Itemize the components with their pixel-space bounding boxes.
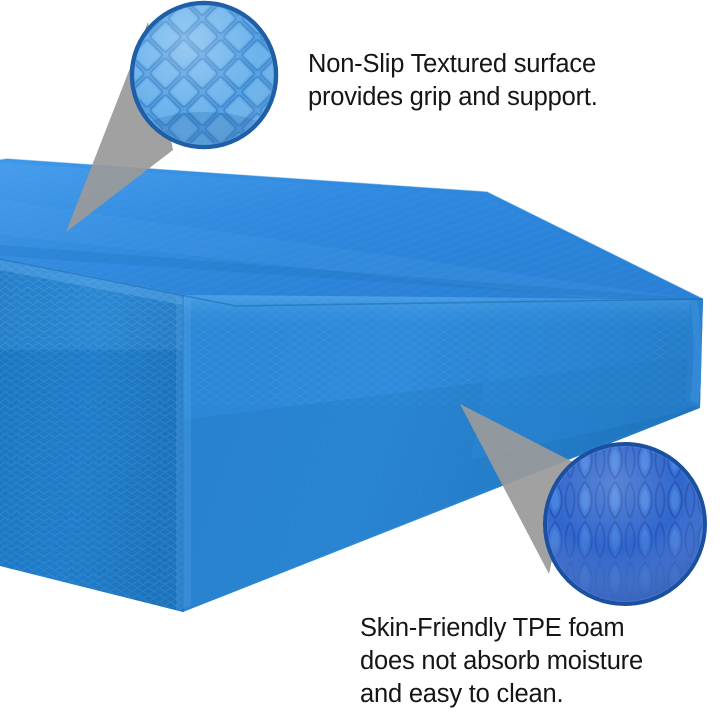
callout-text-bottom: Skin-Friendly TPE foam does not absorb m… [360,612,643,711]
product-infographic: Non-Slip Textured surface provides grip … [0,0,720,720]
callout-text-top: Non-Slip Textured surface provides grip … [308,48,598,114]
